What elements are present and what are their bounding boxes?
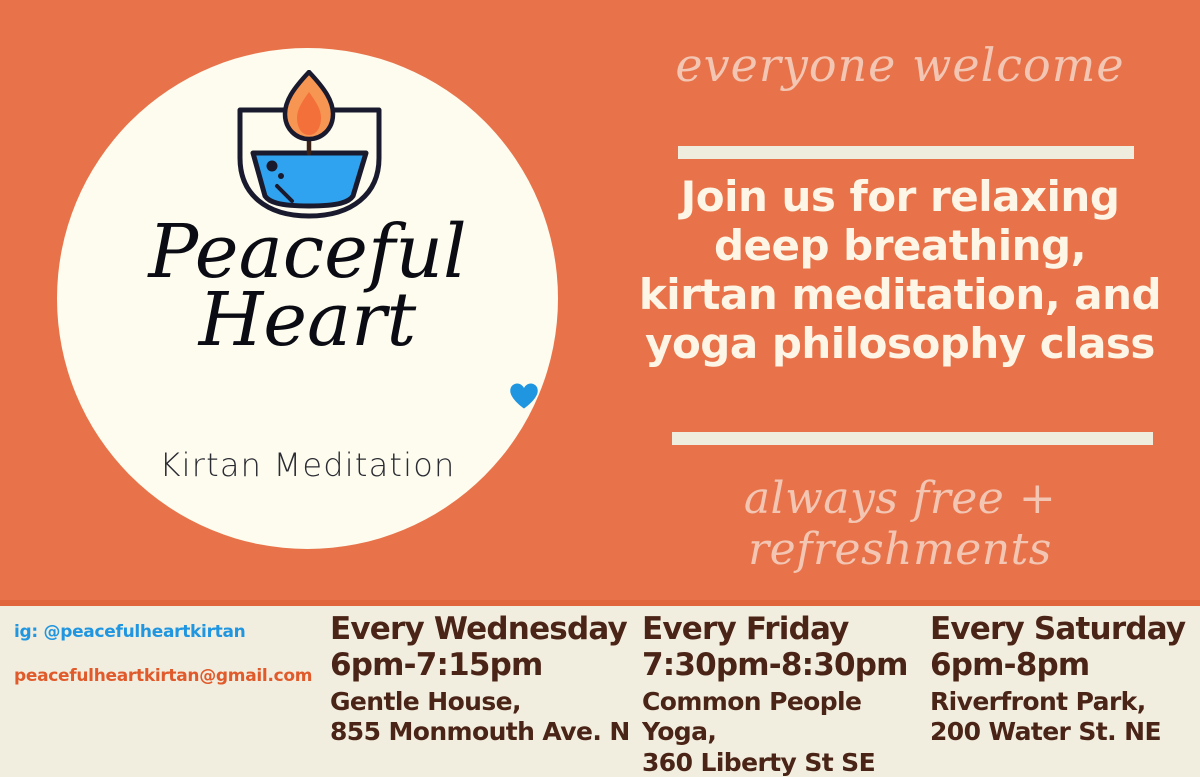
schedule-venue: Gentle House, (330, 687, 642, 718)
schedule-address: 855 Monmouth Ave. N (330, 717, 642, 748)
schedule-time: 6pm-7:15pm (330, 647, 642, 684)
schedule-address: 200 Water St. NE (930, 717, 1195, 748)
divider-top (678, 146, 1134, 159)
instagram-handle[interactable]: ig: @peacefulheartkirtan (14, 622, 324, 642)
schedule-day: Every Friday (642, 612, 930, 647)
schedule-time: 6pm-8pm (930, 647, 1195, 684)
brand-tagline: Kirtan Meditation (57, 446, 558, 484)
schedule-day: Every Wednesday (330, 612, 642, 647)
contact-block: ig: @peacefulheartkirtan peacefulheartki… (14, 614, 324, 686)
email-address[interactable]: peacefulheartkirtan@gmail.com (14, 666, 324, 686)
logo-circle: Peaceful Heart Kirtan Meditation (57, 48, 558, 549)
schedule-column-wednesday: Every Wednesday 6pm-7:15pm Gentle House,… (330, 612, 642, 748)
event-poster: Peaceful Heart Kirtan Meditation everyon… (0, 0, 1200, 777)
schedule-venue: Riverfront Park, (930, 687, 1195, 718)
candle-in-bowl-icon (222, 70, 397, 230)
schedule-column-saturday: Every Saturday 6pm-8pm Riverfront Park, … (930, 612, 1195, 748)
divider-bottom (672, 432, 1153, 445)
promo-script-top: everyone welcome (600, 38, 1200, 92)
heart-icon (509, 381, 539, 411)
schedule-column-friday: Every Friday 7:30pm-8:30pm Common People… (642, 612, 930, 777)
promo-script-bottom: always free + refreshments (600, 473, 1200, 575)
schedule-address: 360 Liberty St SE (642, 748, 930, 777)
schedule-venue: Common People Yoga, (642, 687, 930, 748)
schedule-day: Every Saturday (930, 612, 1195, 647)
promo-column: everyone welcome Join us for relaxing de… (600, 0, 1200, 606)
poster-footer: ig: @peacefulheartkirtan peacefulheartki… (0, 606, 1200, 777)
promo-headline: Join us for relaxing deep breathing, kir… (610, 172, 1190, 369)
brand-name: Peaceful Heart (57, 218, 558, 354)
logo-content: Peaceful Heart Kirtan Meditation (57, 48, 558, 549)
schedule-time: 7:30pm-8:30pm (642, 647, 930, 684)
